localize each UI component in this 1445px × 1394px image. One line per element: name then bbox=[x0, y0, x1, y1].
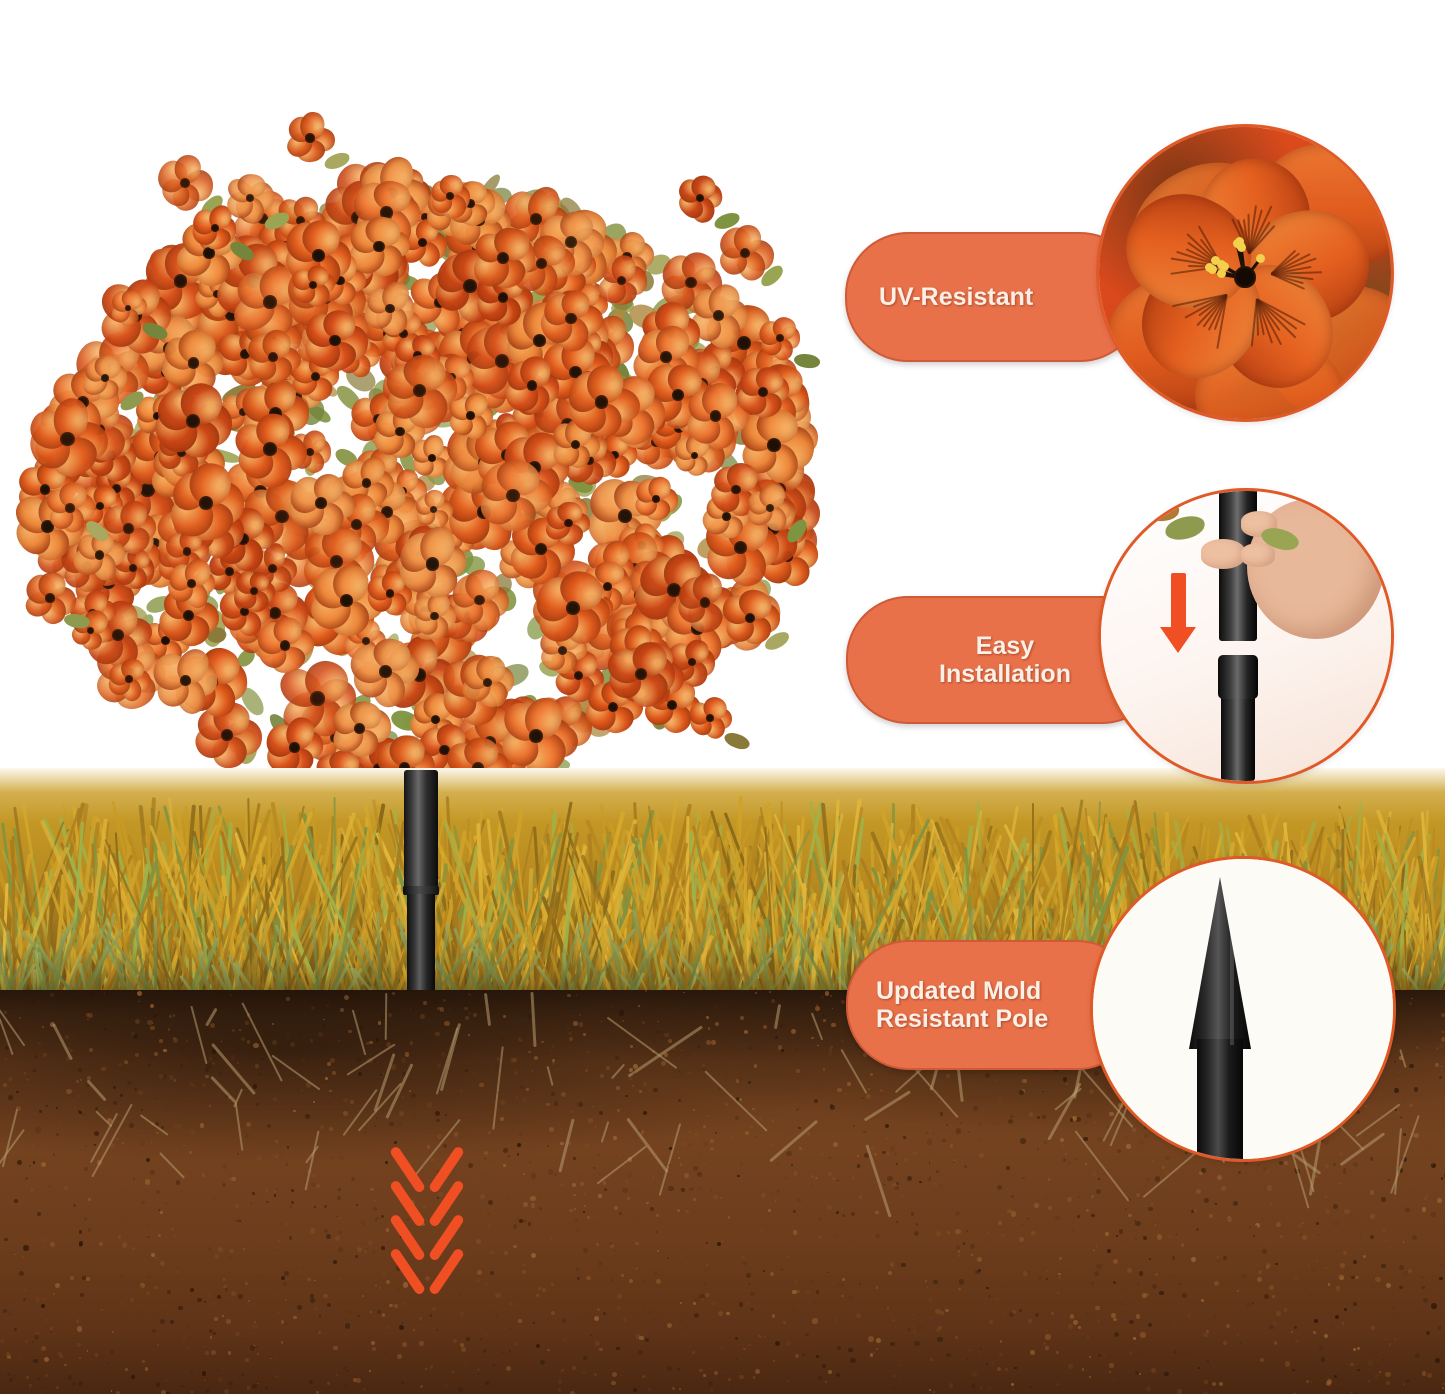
soil-speck bbox=[1295, 1339, 1299, 1343]
soil-speck bbox=[68, 1375, 73, 1380]
soil-speck bbox=[775, 1036, 778, 1039]
soil-speck bbox=[506, 1366, 511, 1371]
soil-speck bbox=[191, 1391, 193, 1393]
soil-speck bbox=[252, 1162, 254, 1164]
soil-speck bbox=[516, 1096, 518, 1098]
soil-speck bbox=[519, 1133, 522, 1136]
soil-speck bbox=[710, 1139, 714, 1143]
flower-center bbox=[306, 448, 314, 456]
soil-speck bbox=[569, 1209, 573, 1213]
soil-speck bbox=[783, 1093, 784, 1094]
flower-center bbox=[446, 192, 454, 200]
soil-speck bbox=[22, 1256, 24, 1258]
soil-speck bbox=[986, 1363, 988, 1365]
flower-center bbox=[497, 252, 509, 264]
soil-speck bbox=[248, 1300, 250, 1302]
soil-speck bbox=[632, 1085, 635, 1088]
soil-speck bbox=[169, 1015, 172, 1018]
soil-speck bbox=[1334, 1222, 1338, 1226]
flower-bush bbox=[10, 78, 820, 808]
soil-speck bbox=[1400, 1117, 1402, 1119]
soil-speck bbox=[1022, 1076, 1023, 1077]
soil-speck bbox=[894, 1152, 897, 1155]
soil-speck bbox=[285, 1299, 287, 1301]
soil-speck bbox=[986, 1287, 989, 1290]
soil-speck bbox=[1158, 1350, 1160, 1352]
soil-speck bbox=[834, 1111, 836, 1113]
soil-speck bbox=[836, 1056, 838, 1058]
soil-speck bbox=[889, 1113, 893, 1117]
soil-speck bbox=[247, 1386, 251, 1390]
soil-speck bbox=[154, 1245, 158, 1249]
soil-speck bbox=[150, 1004, 154, 1008]
soil-speck bbox=[397, 1354, 402, 1359]
soil-speck bbox=[473, 1013, 477, 1017]
soil-speck bbox=[489, 1372, 492, 1375]
soil-speck bbox=[936, 1231, 941, 1236]
flower-center bbox=[183, 547, 191, 555]
flower-center bbox=[474, 595, 485, 606]
soil-speck bbox=[579, 1022, 584, 1027]
soil-speck bbox=[1223, 1341, 1227, 1345]
flower-center bbox=[498, 292, 508, 302]
soil-speck bbox=[174, 1079, 177, 1082]
soil-speck bbox=[679, 1234, 682, 1237]
soil-speck bbox=[894, 1325, 895, 1326]
soil-speck bbox=[514, 1176, 515, 1177]
soil-speck bbox=[435, 1111, 440, 1116]
soil-speck bbox=[685, 1210, 688, 1213]
soil-speck bbox=[1215, 1203, 1217, 1205]
soil-speck bbox=[323, 1019, 325, 1021]
soil-speck bbox=[1261, 1217, 1264, 1220]
soil-speck bbox=[432, 1307, 436, 1311]
soil-speck bbox=[590, 1355, 593, 1358]
soil-speck bbox=[551, 1050, 553, 1052]
soil-speck bbox=[769, 991, 771, 993]
soil-speck bbox=[90, 993, 95, 998]
flower-center bbox=[672, 389, 684, 401]
soil-speck bbox=[465, 1069, 468, 1072]
soil-speck bbox=[154, 1052, 158, 1056]
soil-speck bbox=[403, 1302, 407, 1306]
flower-center bbox=[706, 714, 714, 722]
soil-speck bbox=[1006, 1203, 1009, 1206]
soil-speck bbox=[174, 1235, 176, 1237]
soil-speck bbox=[1066, 1083, 1068, 1085]
soil-speck bbox=[667, 1323, 672, 1328]
soil-speck bbox=[1246, 1302, 1251, 1307]
soil-speck bbox=[1135, 1229, 1138, 1232]
soil-speck bbox=[483, 1349, 487, 1353]
soil-speck bbox=[32, 1341, 34, 1343]
soil-speck bbox=[394, 1304, 398, 1308]
soil-speck bbox=[755, 1136, 756, 1137]
soil-speck bbox=[972, 1384, 976, 1388]
soil-speck bbox=[629, 1077, 632, 1080]
soil-speck bbox=[503, 1148, 508, 1153]
soil-speck bbox=[578, 1175, 581, 1178]
soil-speck bbox=[314, 1280, 316, 1282]
soil-speck bbox=[122, 1142, 124, 1144]
flower-center bbox=[566, 601, 580, 615]
flower-center bbox=[186, 414, 200, 428]
soil-speck bbox=[904, 1158, 908, 1162]
soil-speck bbox=[594, 1316, 599, 1321]
soil-speck bbox=[530, 1196, 536, 1202]
soil-speck bbox=[287, 1137, 288, 1138]
soil-speck bbox=[245, 1358, 249, 1362]
soil-speck bbox=[43, 1238, 48, 1243]
flower-center bbox=[268, 352, 278, 362]
soil-speck bbox=[692, 1351, 695, 1354]
soil-speck bbox=[978, 1122, 982, 1126]
soil-speck bbox=[893, 1245, 897, 1249]
soil-speck bbox=[917, 1269, 921, 1273]
soil-speck bbox=[1019, 1237, 1024, 1242]
soil-speck bbox=[735, 1116, 739, 1120]
soil-speck bbox=[1196, 1228, 1199, 1231]
soil-speck bbox=[894, 1388, 896, 1390]
flower-center bbox=[385, 304, 395, 314]
soil-speck bbox=[925, 1280, 927, 1282]
soil-speck bbox=[240, 1259, 244, 1263]
soil-speck bbox=[430, 1314, 433, 1317]
flower-center bbox=[564, 519, 572, 527]
soil-speck bbox=[380, 1074, 381, 1075]
soil-speck bbox=[1086, 1312, 1089, 1315]
soil-speck bbox=[150, 1141, 153, 1144]
soil-speck bbox=[1013, 1364, 1015, 1366]
flower-center bbox=[65, 503, 74, 512]
soil-speck bbox=[561, 1092, 566, 1097]
soil-speck bbox=[520, 1085, 525, 1090]
soil-speck bbox=[933, 1280, 938, 1285]
soil-speck bbox=[105, 1109, 109, 1113]
soil-speck bbox=[401, 1058, 406, 1063]
flower-center bbox=[268, 564, 277, 573]
soil-speck bbox=[254, 1321, 256, 1323]
soil-speck bbox=[1394, 1088, 1398, 1092]
soil-speck bbox=[1067, 1197, 1072, 1202]
soil-speck bbox=[728, 1378, 731, 1381]
soil-speck bbox=[1309, 1293, 1312, 1296]
soil-speck bbox=[1441, 1066, 1443, 1068]
soil-speck bbox=[592, 1106, 594, 1108]
soil-speck bbox=[635, 1242, 639, 1246]
soil-speck bbox=[818, 1236, 821, 1239]
soil-speck bbox=[26, 1078, 29, 1081]
soil-speck bbox=[1403, 1271, 1408, 1276]
soil-speck bbox=[146, 1158, 150, 1162]
soil-speck bbox=[1139, 1373, 1141, 1375]
soil-speck bbox=[235, 1204, 238, 1207]
flower-center bbox=[129, 564, 137, 572]
soil-speck bbox=[131, 1375, 135, 1379]
soil-speck bbox=[1348, 1261, 1351, 1264]
soil-speck bbox=[793, 1171, 798, 1176]
soil-speck bbox=[973, 1106, 978, 1111]
soil-speck bbox=[377, 1310, 381, 1314]
soil-speck bbox=[350, 1100, 354, 1104]
soil-speck bbox=[616, 1347, 620, 1351]
soil-speck bbox=[313, 1101, 315, 1103]
soil-speck bbox=[740, 1016, 744, 1020]
soil-speck bbox=[755, 1369, 760, 1374]
soil-speck bbox=[150, 1170, 156, 1176]
soil-speck bbox=[327, 1303, 331, 1307]
flower-center bbox=[722, 512, 731, 521]
soil-speck bbox=[1011, 1211, 1016, 1216]
soil-speck bbox=[547, 1349, 549, 1351]
flower-center bbox=[565, 236, 577, 248]
soil-speck bbox=[1239, 1276, 1240, 1277]
soil-speck bbox=[956, 1128, 961, 1133]
soil-speck bbox=[577, 1229, 579, 1231]
soil-speck bbox=[72, 1382, 77, 1387]
soil-speck bbox=[887, 1138, 888, 1139]
soil-speck bbox=[420, 1014, 425, 1019]
soil-speck bbox=[1340, 1263, 1345, 1268]
soil-speck bbox=[347, 1310, 352, 1315]
soil-speck bbox=[1389, 1343, 1392, 1346]
soil-speck bbox=[363, 1388, 366, 1391]
soil-speck bbox=[714, 1005, 719, 1010]
soil-speck bbox=[749, 1283, 751, 1285]
soil-speck bbox=[1187, 1313, 1192, 1318]
soil-speck bbox=[29, 1165, 31, 1167]
soil-speck bbox=[1173, 1276, 1175, 1278]
soil-speck bbox=[916, 1223, 919, 1226]
soil-speck bbox=[311, 1173, 316, 1178]
soil-speck bbox=[320, 1125, 324, 1129]
soil-speck bbox=[577, 1277, 580, 1280]
soil-speck bbox=[933, 1391, 935, 1393]
soil-speck bbox=[856, 1313, 861, 1318]
soil-speck bbox=[118, 1063, 122, 1067]
soil-speck bbox=[200, 1123, 205, 1128]
soil-speck bbox=[1121, 1241, 1126, 1246]
soil-speck bbox=[888, 1271, 892, 1275]
soil-speck bbox=[1435, 1063, 1440, 1068]
soil-speck bbox=[503, 1015, 506, 1018]
flower-center bbox=[312, 249, 325, 262]
soil-speck bbox=[1436, 1047, 1439, 1050]
soil-speck bbox=[1238, 1171, 1241, 1174]
flower-center bbox=[700, 597, 711, 608]
soil-speck bbox=[161, 1390, 166, 1394]
soil-speck bbox=[1188, 1357, 1192, 1361]
soil-speck bbox=[1086, 1209, 1089, 1212]
soil-speck bbox=[858, 1174, 860, 1176]
soil-speck bbox=[583, 1248, 588, 1253]
soil-speck bbox=[1409, 1189, 1410, 1190]
flower-center bbox=[430, 612, 438, 620]
soil-speck bbox=[299, 1034, 301, 1036]
soil-speck bbox=[755, 992, 757, 994]
flower-center bbox=[112, 629, 124, 641]
soil-speck bbox=[1334, 1375, 1337, 1378]
soil-speck bbox=[1116, 1235, 1118, 1237]
flower-center bbox=[211, 224, 219, 232]
soil-speck bbox=[683, 1142, 687, 1146]
soil-speck bbox=[145, 1367, 148, 1370]
soil-speck bbox=[275, 1140, 278, 1143]
soil-speck bbox=[1395, 1044, 1398, 1047]
flower-center bbox=[373, 241, 384, 252]
soil-speck bbox=[242, 1341, 243, 1342]
soil-speck bbox=[513, 1245, 517, 1249]
flower-center bbox=[329, 335, 341, 347]
soil-speck bbox=[1045, 1334, 1050, 1339]
soil-speck bbox=[711, 1190, 712, 1191]
flower-center bbox=[776, 334, 784, 342]
soil-speck bbox=[252, 1323, 258, 1329]
soil-speck bbox=[930, 1358, 933, 1361]
flower-center bbox=[466, 411, 475, 420]
soil-speck bbox=[1265, 1241, 1268, 1244]
soil-speck bbox=[667, 1257, 670, 1260]
soil-speck bbox=[748, 1081, 751, 1084]
soil-speck bbox=[517, 1143, 521, 1147]
flower-center bbox=[379, 665, 392, 678]
soil-speck bbox=[870, 1353, 873, 1356]
soil-speck bbox=[987, 1386, 992, 1391]
soil-speck bbox=[682, 1196, 683, 1197]
soil-speck bbox=[702, 1021, 704, 1023]
soil-speck bbox=[113, 1086, 116, 1089]
soil-speck bbox=[158, 1234, 161, 1237]
soil-speck bbox=[140, 1033, 142, 1035]
soil-speck bbox=[53, 1293, 55, 1295]
soil-speck bbox=[1133, 1337, 1135, 1339]
flower-center bbox=[362, 478, 372, 488]
soil-speck bbox=[333, 1101, 337, 1105]
soil-speck bbox=[727, 1386, 730, 1389]
soil-speck bbox=[408, 1104, 410, 1106]
flower-center bbox=[530, 213, 542, 225]
flower-center bbox=[710, 410, 722, 422]
soil-speck bbox=[503, 1094, 504, 1095]
soil-speck bbox=[684, 1173, 689, 1178]
soil-speck bbox=[997, 1185, 1002, 1190]
flower-center bbox=[691, 452, 699, 460]
flower-center bbox=[660, 351, 672, 363]
soil-speck bbox=[231, 1055, 236, 1060]
soil-speck bbox=[680, 1163, 682, 1165]
flower-center bbox=[60, 432, 74, 446]
soil-speck bbox=[402, 1322, 403, 1323]
soil-speck bbox=[1353, 1260, 1357, 1264]
soil-speck bbox=[913, 1330, 916, 1333]
soil-speck bbox=[783, 1321, 786, 1324]
soil-speck bbox=[392, 992, 395, 995]
soil-speck bbox=[1439, 1076, 1442, 1079]
flower-center bbox=[188, 357, 200, 369]
soil-speck bbox=[1406, 1379, 1410, 1383]
flower-center bbox=[713, 310, 724, 321]
soil-speck bbox=[204, 1346, 206, 1348]
soil-speck bbox=[405, 1052, 409, 1056]
soil-speck bbox=[978, 1140, 980, 1142]
soil-speck bbox=[574, 1208, 576, 1210]
soil-speck bbox=[125, 1368, 128, 1371]
soil-speck bbox=[580, 1349, 582, 1351]
soil-speck bbox=[1325, 1267, 1327, 1269]
soil-speck bbox=[568, 1032, 572, 1036]
soil-speck bbox=[889, 1068, 891, 1070]
soil-speck bbox=[1006, 1166, 1010, 1170]
flower-center bbox=[221, 729, 233, 741]
soil-speck bbox=[461, 1347, 466, 1352]
soil-speck bbox=[402, 1377, 405, 1380]
soil-speck bbox=[830, 995, 832, 997]
soil-speck bbox=[1068, 1324, 1073, 1329]
soil-speck bbox=[919, 1181, 922, 1184]
flower-center bbox=[767, 438, 781, 452]
soil-speck bbox=[389, 1122, 394, 1127]
flower-center bbox=[506, 489, 520, 503]
soil-speck bbox=[1324, 1334, 1329, 1339]
soil-speck bbox=[324, 1205, 326, 1207]
soil-speck bbox=[1353, 1162, 1358, 1167]
soil-speck bbox=[679, 1388, 681, 1390]
soil-speck bbox=[554, 1101, 559, 1106]
soil-speck bbox=[1423, 1298, 1428, 1303]
soil-speck bbox=[104, 993, 105, 994]
soil-speck bbox=[211, 1350, 216, 1355]
soil-speck bbox=[1089, 1376, 1091, 1378]
soil-speck bbox=[731, 1137, 733, 1139]
soil-speck bbox=[9, 1077, 13, 1081]
soil-speck bbox=[221, 1252, 224, 1255]
soil-speck bbox=[35, 1297, 40, 1302]
soil-speck bbox=[873, 1352, 875, 1354]
soil-speck bbox=[761, 1229, 764, 1232]
soil-speck bbox=[1310, 1381, 1312, 1383]
soil-speck bbox=[286, 1163, 289, 1166]
soil-speck bbox=[139, 997, 142, 1000]
soil-speck bbox=[827, 1272, 828, 1273]
soil-speck bbox=[1089, 1356, 1091, 1358]
soil-speck bbox=[880, 1089, 883, 1092]
soil-speck bbox=[553, 1231, 554, 1232]
soil-speck bbox=[1058, 1276, 1061, 1279]
soil-speck bbox=[1073, 1259, 1076, 1262]
soil-speck bbox=[911, 1212, 914, 1215]
soil-speck bbox=[41, 1346, 46, 1351]
soil-speck bbox=[571, 1110, 574, 1113]
flower-center bbox=[311, 372, 320, 381]
soil-speck bbox=[5, 1058, 8, 1061]
bush-sprig-leaf bbox=[793, 351, 822, 371]
soil-speck bbox=[190, 1295, 191, 1296]
soil-speck bbox=[807, 1132, 811, 1136]
soil-speck bbox=[1276, 1311, 1281, 1316]
flower-center bbox=[315, 497, 327, 509]
soil-speck bbox=[754, 1064, 757, 1067]
soil-speck bbox=[1270, 1203, 1273, 1206]
soil-speck bbox=[3, 1309, 7, 1313]
flower-center bbox=[180, 675, 192, 687]
soil-speck bbox=[764, 1336, 766, 1338]
soil-speck bbox=[750, 1292, 755, 1297]
soil-speck bbox=[1214, 1316, 1216, 1318]
soil-speck bbox=[656, 1279, 661, 1284]
soil-speck bbox=[127, 1146, 130, 1149]
soil-speck bbox=[1146, 1386, 1151, 1391]
soil-speck bbox=[1438, 1326, 1442, 1330]
